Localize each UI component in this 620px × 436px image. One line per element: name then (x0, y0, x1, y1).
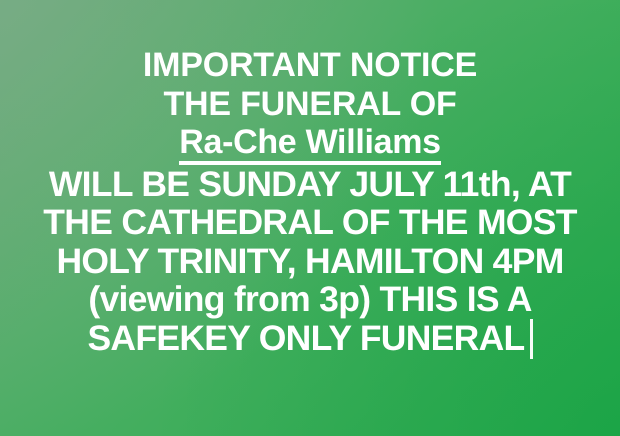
admission-note-line: SAFEKEY ONLY FUNERAL (8, 319, 612, 359)
venue-line-1: THE CATHEDRAL OF THE MOST (8, 203, 612, 242)
text-cursor-icon (530, 319, 533, 359)
date-line: WILL BE SUNDAY JULY 11th, AT (8, 165, 612, 204)
funeral-of-line: THE FUNERAL OF (8, 85, 612, 124)
admission-note-text: SAFEKEY ONLY FUNERAL (87, 318, 524, 358)
story-canvas[interactable]: IMPORTANT NOTICE THE FUNERAL OF Ra-Che W… (0, 0, 620, 436)
story-text-block[interactable]: IMPORTANT NOTICE THE FUNERAL OF Ra-Che W… (0, 46, 620, 359)
deceased-name-underlined: Ra-Che Williams (179, 125, 441, 165)
viewing-time-line: (viewing from 3p) THIS IS A (8, 280, 612, 319)
notice-heading-line: IMPORTANT NOTICE (8, 46, 612, 85)
venue-line-2: HOLY TRINITY, HAMILTON 4PM (8, 242, 612, 281)
deceased-name-line: Ra-Che Williams (8, 123, 612, 165)
